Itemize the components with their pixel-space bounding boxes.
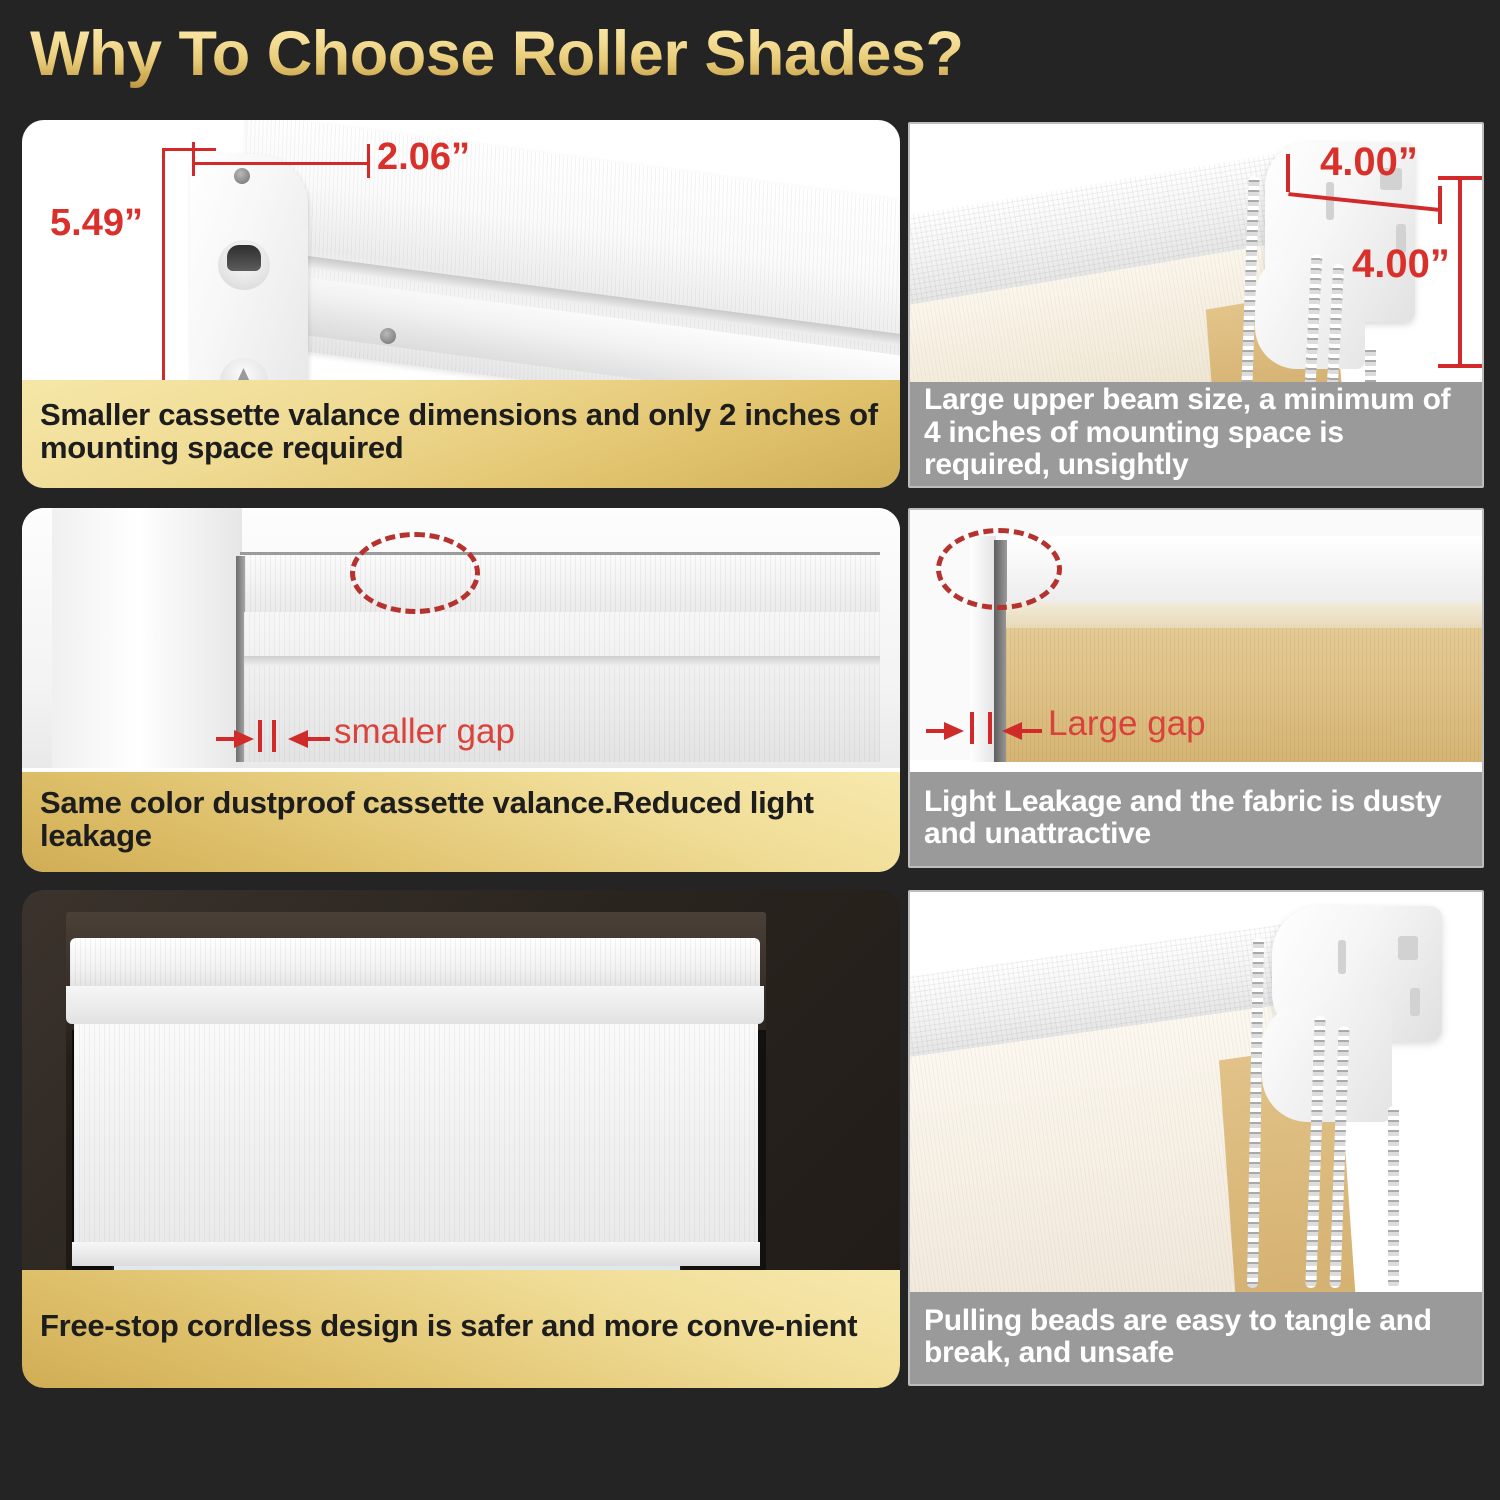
arrow-left-icon [1002,722,1022,740]
caption-large-upper-beam: Large upper beam size, a minimum of 4 in… [910,382,1482,486]
dimension-line-vertical [1458,176,1462,368]
caption-cassette-valance: Smaller cassette valance dimensions and … [22,380,900,488]
panel-cassette-valance: 2.06” 5.49” Smaller cassette valance dim… [22,120,900,488]
caption-light-leakage: Light Leakage and the fabric is dusty an… [910,772,1482,866]
highlight-circle-icon [936,528,1062,610]
dimension-label-206: 2.06” [377,136,470,179]
panel-pulling-beads: Pulling beads are easy to tangle and bre… [908,890,1484,1386]
dimension-line-horizontal [192,162,370,165]
arrow-right-icon [944,722,964,740]
dimension-label-400-horizontal: 4.00” [1320,140,1418,185]
panel-cordless-design: Free-stop cordless design is safer and m… [22,890,900,1388]
arrow-left-icon [288,730,308,748]
panel-large-upper-beam: 4.00” 4.00” Large upper beam size, a min… [908,122,1484,488]
caption-cordless-design: Free-stop cordless design is safer and m… [22,1270,900,1388]
caption-pulling-beads: Pulling beads are easy to tangle and bre… [910,1292,1482,1384]
page-title: Why To Choose Roller Shades? [30,18,963,90]
bead-chain [1388,1106,1399,1288]
annotation-large-gap: Large gap [1048,704,1206,744]
dimension-label-400-vertical: 4.00” [1352,242,1450,287]
panel-dustproof-valance: smaller gap Same color dustproof cassett… [22,508,900,872]
annotation-smaller-gap: smaller gap [334,712,515,752]
highlight-circle-icon [350,532,480,614]
caption-dustproof-valance: Same color dustproof cassette valance.Re… [22,772,900,872]
dimension-label-549: 5.49” [50,202,143,245]
panel-light-leakage: Large gap Light Leakage and the fabric i… [908,508,1484,868]
